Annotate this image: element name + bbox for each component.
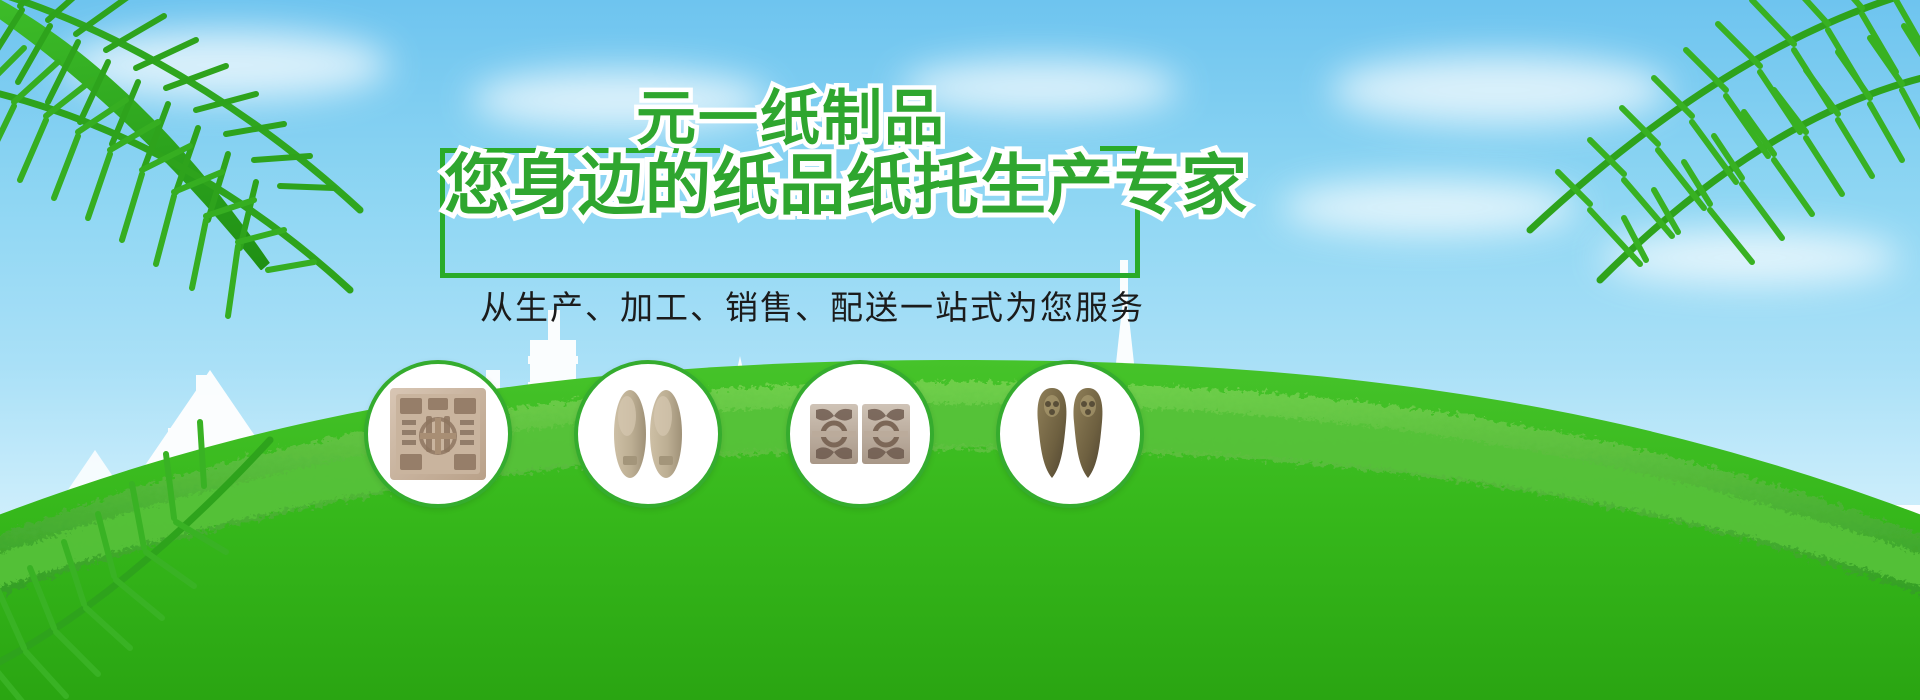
molded-pulp-shoe-inserts-image — [596, 382, 700, 486]
product-circle-molded-pulp-shoe-inserts[interactable] — [574, 360, 722, 508]
molded-pulp-tray-square-image — [386, 382, 490, 486]
product-circle-molded-pulp-tray-square[interactable] — [364, 360, 512, 508]
product-circle-row — [0, 0, 1920, 700]
molded-pulp-tray-pair-image — [808, 382, 912, 486]
product-circle-molded-pulp-shoe-trees[interactable] — [996, 360, 1144, 508]
promo-banner: 元一纸制品 您身边的纸品纸托生产专家 从生产、加工、销售、配送一站式为您服务 — [0, 0, 1920, 700]
product-circle-molded-pulp-tray-pair[interactable] — [786, 360, 934, 508]
molded-pulp-shoe-trees-image — [1018, 382, 1122, 486]
